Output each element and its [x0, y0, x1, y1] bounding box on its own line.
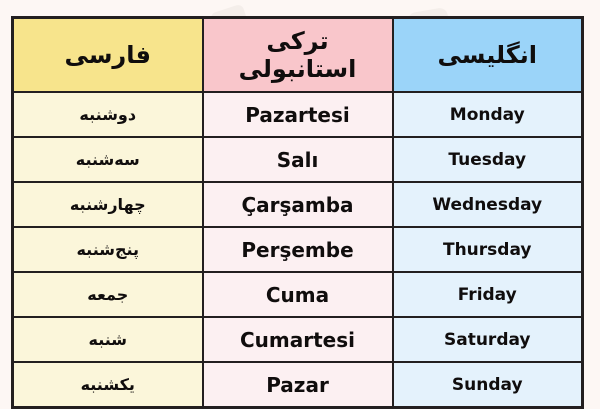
cell-persian: یکشنبه — [13, 362, 203, 408]
table-row: Saturday Cumartesi شنبه — [13, 317, 583, 362]
cell-persian: دوشنبه — [13, 92, 203, 137]
cell-turkish: Salı — [203, 137, 393, 182]
table-row: Wednesday Çarşamba چهارشنبه — [13, 182, 583, 227]
table-row: Sunday Pazar یکشنبه — [13, 362, 583, 408]
column-header-turkish: ترکی استانبولی — [203, 18, 393, 93]
cell-turkish: Perşembe — [203, 227, 393, 272]
table-body: Monday Pazartesi دوشنبه Tuesday Salı سه‌… — [13, 92, 583, 408]
column-header-persian: فارسی — [13, 18, 203, 93]
weekday-table-container: انگلیسی ترکی استانبولی فارسی Monday Paza… — [14, 16, 584, 388]
cell-persian: سه‌شنبه — [13, 137, 203, 182]
table-row: Tuesday Salı سه‌شنبه — [13, 137, 583, 182]
cell-english: Thursday — [393, 227, 583, 272]
cell-persian: چهارشنبه — [13, 182, 203, 227]
table-row: Thursday Perşembe پنج‌شنبه — [13, 227, 583, 272]
cell-turkish: Pazartesi — [203, 92, 393, 137]
column-header-english: انگلیسی — [393, 18, 583, 93]
cell-turkish: Cuma — [203, 272, 393, 317]
cell-english: Friday — [393, 272, 583, 317]
table-row: Friday Cuma جمعه — [13, 272, 583, 317]
cell-english: Saturday — [393, 317, 583, 362]
cell-english: Monday — [393, 92, 583, 137]
cell-turkish: Cumartesi — [203, 317, 393, 362]
cell-turkish: Pazar — [203, 362, 393, 408]
table-row: Monday Pazartesi دوشنبه — [13, 92, 583, 137]
cell-english: Sunday — [393, 362, 583, 408]
header-row: انگلیسی ترکی استانبولی فارسی — [13, 18, 583, 93]
table-header: انگلیسی ترکی استانبولی فارسی — [13, 18, 583, 93]
weekday-table: انگلیسی ترکی استانبولی فارسی Monday Paza… — [11, 16, 584, 409]
cell-english: Tuesday — [393, 137, 583, 182]
cell-persian: پنج‌شنبه — [13, 227, 203, 272]
cell-english: Wednesday — [393, 182, 583, 227]
cell-persian: شنبه — [13, 317, 203, 362]
cell-persian: جمعه — [13, 272, 203, 317]
cell-turkish: Çarşamba — [203, 182, 393, 227]
